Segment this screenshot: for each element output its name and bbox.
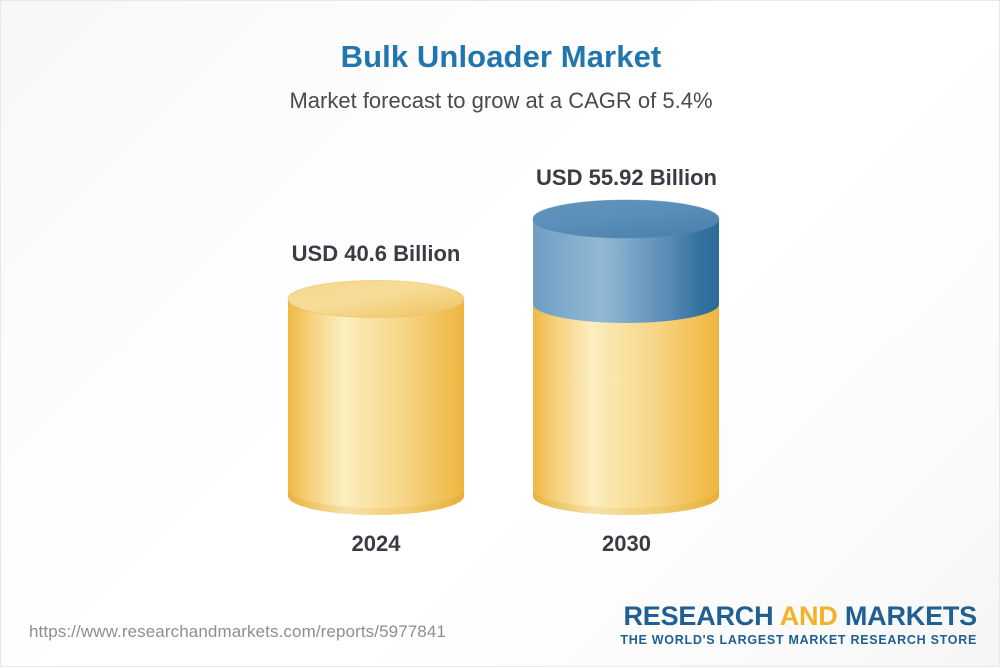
category-label-2030: 2030	[524, 531, 729, 557]
research-and-markets-logo[interactable]: RESEARCH AND MARKETS THE WORLD'S LARGEST…	[620, 602, 977, 647]
logo-word-and: AND	[780, 601, 845, 631]
data-label-2024: USD 40.6 Billion	[276, 241, 476, 267]
logo-word-markets: MARKETS	[845, 601, 977, 631]
chart-plot-area: USD 40.6 Billion USD 55.92 Billion 2024 …	[1, 1, 1000, 668]
logo-tagline: THE WORLD'S LARGEST MARKET RESEARCH STOR…	[620, 633, 977, 647]
logo-word-research: RESEARCH	[623, 601, 779, 631]
report-url[interactable]: https://www.researchandmarkets.com/repor…	[29, 622, 446, 642]
logo-wordmark: RESEARCH AND MARKETS	[620, 602, 977, 630]
cylinder-bar-2024	[286, 279, 466, 521]
category-label-2024: 2024	[276, 531, 476, 557]
data-label-2030: USD 55.92 Billion	[524, 165, 729, 191]
cylinder-bar-2030	[531, 199, 721, 521]
chart-canvas: Bulk Unloader Market Market forecast to …	[0, 0, 1000, 667]
